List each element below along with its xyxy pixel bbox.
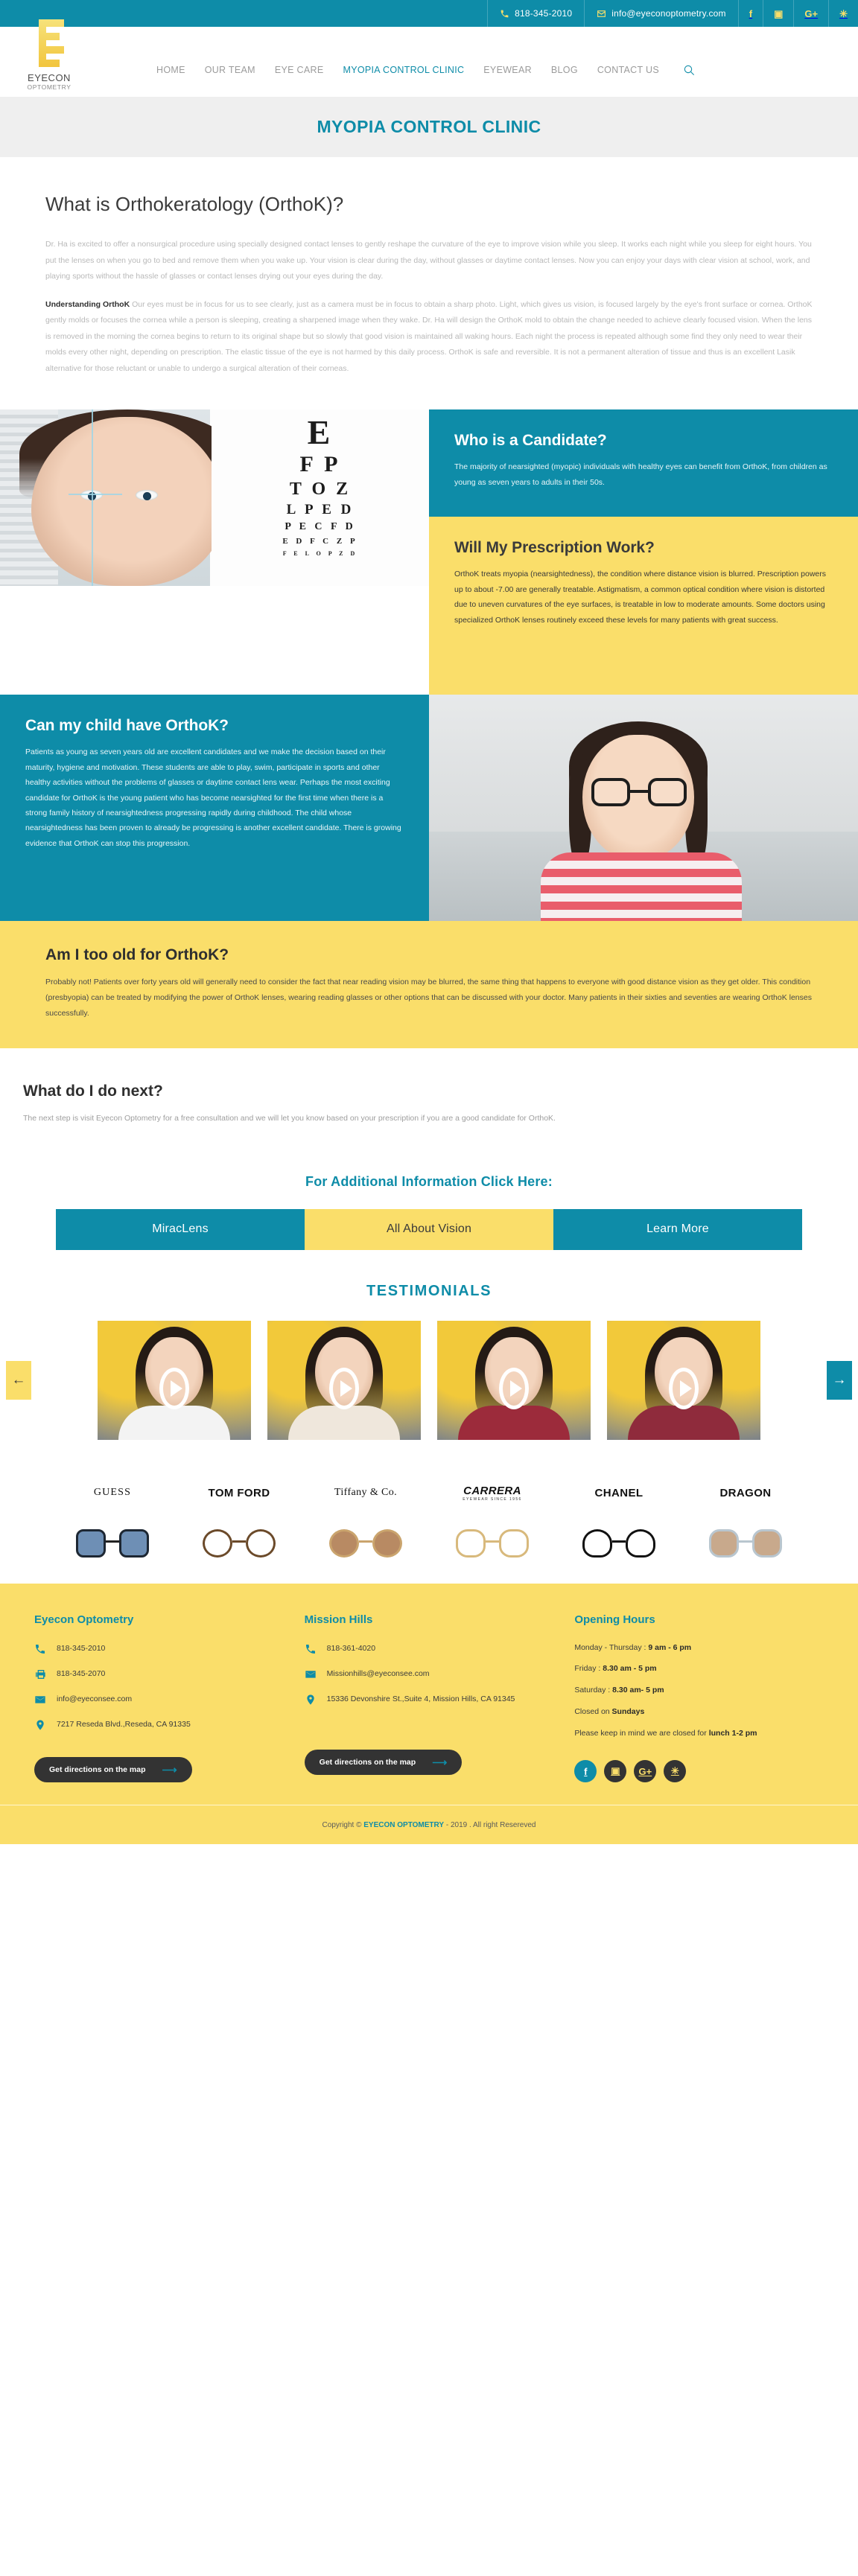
hours-label-friday: Friday : — [574, 1664, 603, 1673]
brand-name-tom-ford: TOM FORD — [183, 1487, 295, 1499]
footer-col2-phone-text: 818-361-4020 — [327, 1642, 375, 1654]
eyechart-row-6: E D F C Z P — [282, 538, 357, 546]
child-photo — [429, 695, 858, 921]
nav-item-myopia-control-clinic[interactable]: MYOPIA CONTROL CLINIC — [343, 65, 464, 75]
footer-col1-directions-label: Get directions on the map — [49, 1765, 146, 1774]
facebook-icon: f — [749, 9, 752, 19]
hours-row-lunch: Please keep in mind we are closed for lu… — [574, 1728, 824, 1740]
intro-paragraph-2-lead: Understanding OrthoK — [45, 300, 130, 309]
footer-col2-title: Mission Hills — [305, 1613, 554, 1626]
site-header: EYECON OPTOMETRY HOME OUR TEAM EYE CARE … — [0, 27, 858, 97]
testimonial-video-1[interactable] — [98, 1321, 251, 1440]
brand-dragon[interactable]: DRAGON — [690, 1487, 801, 1499]
glasses-product-row — [57, 1524, 801, 1563]
testimonial-video-4[interactable] — [607, 1321, 760, 1440]
eye-exam-image: E F P T O Z L P E D P E C F D E D F C Z … — [0, 409, 429, 586]
child-heading: Can my child have OrthoK? — [25, 717, 404, 735]
google-plus-icon: G+ — [638, 1766, 652, 1777]
phone-icon — [34, 1643, 46, 1655]
eyechart-row-5: P E C F D — [285, 522, 355, 532]
topbar-phone-text: 818-345-2010 — [515, 8, 572, 19]
footer-col2-address-text: 15336 Devonshire St.,Suite 4, Mission Hi… — [327, 1693, 515, 1705]
brand-name-carrera: CARRERA — [436, 1485, 548, 1497]
carousel-next-arrow[interactable]: → — [827, 1361, 852, 1400]
topbar-email-link[interactable]: info@eyeconoptometry.com — [584, 0, 738, 27]
footer-col3-title: Opening Hours — [574, 1613, 824, 1626]
footer-col1-email-text: info@eyeconsee.com — [57, 1693, 132, 1705]
envelope-icon — [34, 1694, 46, 1706]
nav-item-home[interactable]: HOME — [156, 65, 185, 75]
hours-value-mon-thu: 9 am - 6 pm — [648, 1643, 691, 1652]
glasses-product-1[interactable] — [57, 1524, 168, 1563]
hours-row-friday: Friday : 8.30 am - 5 pm — [574, 1663, 824, 1675]
logo-sub: OPTOMETRY — [22, 83, 76, 91]
hours-label-lunch: Please keep in mind we are closed for — [574, 1729, 708, 1738]
brand-carrera[interactable]: CARRERA EYEWEAR SINCE 1956 — [436, 1485, 548, 1502]
hours-label-saturday: Saturday : — [574, 1686, 612, 1695]
site-logo[interactable]: EYECON OPTOMETRY — [22, 18, 76, 91]
topbar-googleplus-link[interactable]: G+ — [793, 0, 828, 27]
intro-paragraph-2: Understanding OrthoK Our eyes must be in… — [45, 297, 813, 377]
footer-column-mission-hills: Mission Hills 818-361-4020 Missionhills@… — [305, 1613, 554, 1783]
eyechart-row-2: F P — [299, 453, 340, 476]
nav-item-contact-us[interactable]: CONTACT US — [597, 65, 659, 75]
split-left-column-2: Can my child have OrthoK? Patients as yo… — [0, 695, 429, 921]
hours-value-lunch: lunch 1-2 pm — [709, 1729, 757, 1738]
split-row-2: Can my child have OrthoK? Patients as yo… — [0, 695, 858, 921]
testimonials-carousel: ← — [0, 1321, 858, 1440]
brand-tagline-carrera: EYEWEAR SINCE 1956 — [436, 1497, 548, 1502]
eye-exam-photo: E F P T O Z L P E D P E C F D E D F C Z … — [0, 409, 429, 695]
too-old-wrap: Am I too old for OrthoK? Probably not! P… — [23, 946, 835, 1021]
footer-col1-fax-text: 818-345-2070 — [57, 1668, 105, 1680]
footer-col1-phone-text: 818-345-2010 — [57, 1642, 105, 1654]
what-next-section: What do I do next? The next step is visi… — [23, 1048, 835, 1148]
footer-yelp-button[interactable]: ✳ — [664, 1760, 686, 1782]
hours-row-mon-thu: Monday - Thursday : 9 am - 6 pm — [574, 1642, 824, 1654]
glasses-product-6[interactable] — [690, 1524, 801, 1563]
too-old-section: Am I too old for OrthoK? Probably not! P… — [0, 921, 858, 1048]
intro-section: What is Orthokeratology (OrthoK)? Dr. Ha… — [23, 157, 835, 409]
copyright-pre: Copyright © — [322, 1821, 364, 1829]
phone-icon — [305, 1643, 317, 1655]
alignment-crosshair-horizontal — [69, 494, 122, 495]
testimonials-section: TESTIMONIALS ← — [0, 1250, 858, 1459]
topbar-phone-link[interactable]: 818-345-2010 — [487, 0, 584, 27]
footer-col2-phone[interactable]: 818-361-4020 — [305, 1642, 554, 1655]
patient-face — [31, 417, 225, 586]
nav-item-eye-care[interactable]: EYE CARE — [275, 65, 324, 75]
what-next-heading: What do I do next? — [23, 1083, 835, 1100]
play-icon[interactable] — [329, 1368, 359, 1409]
carousel-prev-arrow[interactable]: ← — [6, 1361, 31, 1400]
footer-col1-address-text: 7217 Reseda Blvd.,Reseda, CA 91335 — [57, 1718, 191, 1730]
instagram-icon: ▣ — [611, 1765, 620, 1777]
child-body: Patients as young as seven years old are… — [25, 745, 404, 851]
footer-columns: Eyecon Optometry 818-345-2010 818-345-20… — [34, 1613, 824, 1783]
split-row-1: E F P T O Z L P E D P E C F D E D F C Z … — [0, 409, 858, 695]
too-old-heading: Am I too old for OrthoK? — [45, 946, 813, 964]
child-with-glasses-image — [429, 695, 858, 921]
footer-col2-address: 15336 Devonshire St.,Suite 4, Mission Hi… — [305, 1693, 554, 1706]
play-icon[interactable] — [669, 1368, 699, 1409]
child-panel: Can my child have OrthoK? Patients as yo… — [0, 695, 429, 921]
brand-logo-row: GUESS TOM FORD Tiffany & Co. CARRERA EYE… — [57, 1485, 801, 1502]
topbar-yelp-link[interactable]: ✳ — [828, 0, 858, 27]
glasses-product-2[interactable] — [183, 1524, 295, 1563]
eyecon-logo-mark — [27, 18, 71, 71]
map-pin-icon — [305, 1694, 317, 1706]
fax-icon — [34, 1668, 46, 1680]
footer-col1-directions-button[interactable]: Get directions on the map ⟶ — [34, 1757, 192, 1782]
person-body — [458, 1406, 570, 1440]
hours-value-sunday: Sundays — [612, 1707, 645, 1716]
hours-label-sunday: Closed on — [574, 1707, 611, 1716]
arrow-right-icon: ⟶ — [162, 1764, 177, 1775]
what-next-body: The next step is visit Eyecon Optometry … — [23, 1111, 753, 1126]
glasses-right-lens — [648, 778, 687, 806]
footer-instagram-button[interactable]: ▣ — [604, 1760, 626, 1782]
glasses-product-4[interactable] — [436, 1524, 548, 1563]
eyechart-row-1: E — [308, 415, 334, 450]
child-striped-shirt — [541, 852, 742, 921]
footer-col1-address: 7217 Reseda Blvd.,Reseda, CA 91335 — [34, 1718, 284, 1731]
alignment-crosshair-vertical — [92, 409, 93, 586]
footer-facebook-button[interactable]: f — [574, 1760, 597, 1782]
intro-paragraph-1: Dr. Ha is excited to offer a nonsurgical… — [45, 237, 813, 285]
envelope-icon — [305, 1668, 317, 1680]
person-body — [288, 1406, 400, 1440]
hours-label-mon-thu: Monday - Thursday : — [574, 1643, 648, 1652]
footer-col1-fax: 818-345-2070 — [34, 1668, 284, 1680]
child-eyeglasses — [591, 778, 687, 806]
google-plus-icon: G+ — [804, 9, 818, 19]
candidate-body: The majority of nearsighted (myopic) ind… — [454, 459, 833, 490]
testimonials-heading: TESTIMONIALS — [0, 1283, 858, 1300]
prescription-heading: Will My Prescription Work? — [454, 539, 833, 557]
topbar-instagram-link[interactable]: ▣ — [763, 0, 793, 27]
candidate-heading: Who is a Candidate? — [454, 432, 833, 450]
footer-column-eyecon: Eyecon Optometry 818-345-2010 818-345-20… — [34, 1613, 284, 1783]
facebook-icon: f — [584, 1766, 587, 1777]
learn-more-button[interactable]: Learn More — [553, 1209, 802, 1250]
eyechart-row-3: T O Z — [290, 480, 351, 498]
footer-col2-email[interactable]: Missionhills@eyeconsee.com — [305, 1668, 554, 1680]
intro-paragraph-2-body: Our eyes must be in focus for us to see … — [45, 300, 813, 373]
page-title: MYOPIA CONTROL CLINIC — [317, 117, 541, 137]
additional-info-heading: For Additional Information Click Here: — [0, 1174, 858, 1190]
testimonial-video-2[interactable] — [267, 1321, 421, 1440]
copyright-text: Copyright © EYECON OPTOMETRY - 2019 . Al… — [322, 1821, 536, 1829]
hours-row-sunday: Closed on Sundays — [574, 1706, 824, 1718]
person-body — [628, 1406, 740, 1440]
map-pin-icon — [34, 1719, 46, 1731]
copyright-post: - 2019 . All right Resereved — [444, 1821, 536, 1829]
yelp-icon: ✳ — [839, 9, 848, 19]
person-body — [118, 1406, 230, 1440]
glasses-product-5[interactable] — [563, 1524, 675, 1563]
all-about-vision-button[interactable]: All About Vision — [305, 1209, 553, 1250]
eyechart-row-4: L P E D — [287, 503, 355, 517]
nav-item-our-team[interactable]: OUR TEAM — [205, 65, 255, 75]
glasses-left-lens — [591, 778, 630, 806]
testimonial-video-3[interactable] — [437, 1321, 591, 1440]
instagram-icon: ▣ — [774, 9, 783, 19]
footer-column-hours: Opening Hours Monday - Thursday : 9 am -… — [574, 1613, 824, 1783]
logo-name: EYECON — [22, 73, 76, 83]
search-icon[interactable] — [683, 64, 695, 76]
brand-guess[interactable]: GUESS — [57, 1487, 168, 1499]
footer-col2-directions-button[interactable]: Get directions on the map ⟶ — [305, 1750, 463, 1775]
site-footer: Eyecon Optometry 818-345-2010 818-345-20… — [0, 1584, 858, 1845]
intro-heading: What is Orthokeratology (OrthoK)? — [45, 193, 813, 216]
page-title-banner: MYOPIA CONTROL CLINIC — [0, 97, 858, 157]
topbar-facebook-link[interactable]: f — [738, 0, 763, 27]
play-icon[interactable] — [159, 1368, 189, 1409]
candidate-panel: Who is a Candidate? The majority of near… — [429, 409, 858, 517]
brand-name-chanel: CHANEL — [563, 1487, 675, 1499]
main-nav: HOME OUR TEAM EYE CARE MYOPIA CONTROL CL… — [156, 64, 695, 76]
footer-col2-directions-label: Get directions on the map — [320, 1758, 416, 1767]
hours-value-friday: 8.30 am - 5 pm — [603, 1664, 656, 1673]
brand-chanel[interactable]: CHANEL — [563, 1487, 675, 1499]
prescription-body: OrthoK treats myopia (nearsightedness), … — [454, 567, 833, 628]
brand-tiffany[interactable]: Tiffany & Co. — [310, 1487, 422, 1499]
topbar-email-text: info@eyeconoptometry.com — [611, 8, 726, 19]
eyechart-row-7: F E L O P Z D — [283, 551, 358, 557]
carousel-slides — [0, 1321, 858, 1440]
brand-tom-ford[interactable]: TOM FORD — [183, 1487, 295, 1499]
footer-social-row: f ▣ G+ ✳ — [574, 1760, 824, 1782]
brand-name-guess: GUESS — [57, 1487, 168, 1499]
brands-section: GUESS TOM FORD Tiffany & Co. CARRERA EYE… — [0, 1459, 858, 1584]
phone-icon — [500, 9, 509, 19]
copyright-brand: EYECON OPTOMETRY — [363, 1821, 444, 1829]
brand-name-tiffany: Tiffany & Co. — [310, 1487, 422, 1499]
play-icon[interactable] — [499, 1368, 529, 1409]
miraclens-button[interactable]: MiracLens — [56, 1209, 305, 1250]
hours-row-saturday: Saturday : 8.30 am- 5 pm — [574, 1685, 824, 1697]
snellen-eye-chart: E F P T O Z L P E D P E C F D E D F C Z … — [212, 409, 429, 586]
arrow-right-icon: ⟶ — [432, 1757, 447, 1767]
glasses-product-3[interactable] — [310, 1524, 422, 1563]
envelope-icon — [597, 9, 606, 19]
footer-col1-title: Eyecon Optometry — [34, 1613, 284, 1626]
prescription-panel: Will My Prescription Work? OrthoK treats… — [429, 517, 858, 695]
nav-item-eyewear[interactable]: EYEWEAR — [483, 65, 532, 75]
footer-col1-email[interactable]: info@eyeconsee.com — [34, 1693, 284, 1706]
brand-name-dragon: DRAGON — [690, 1487, 801, 1499]
hours-value-saturday: 8.30 am- 5 pm — [612, 1686, 664, 1695]
glasses-bridge — [630, 790, 648, 793]
nav-item-blog[interactable]: BLOG — [551, 65, 578, 75]
footer-googleplus-button[interactable]: G+ — [634, 1760, 656, 1782]
split-right-column-1: Who is a Candidate? The majority of near… — [429, 409, 858, 695]
footer-col1-phone[interactable]: 818-345-2010 — [34, 1642, 284, 1655]
yelp-icon: ✳ — [671, 1765, 679, 1777]
additional-info-section: For Additional Information Click Here: M… — [0, 1149, 858, 1250]
additional-info-buttons: MiracLens All About Vision Learn More — [56, 1209, 802, 1250]
footer-copyright-bar: Copyright © EYECON OPTOMETRY - 2019 . Al… — [0, 1805, 858, 1844]
top-utility-bar: 818-345-2010 info@eyeconoptometry.com f … — [0, 0, 858, 27]
too-old-body: Probably not! Patients over forty years … — [45, 975, 813, 1021]
footer-col2-email-text: Missionhills@eyeconsee.com — [327, 1668, 430, 1680]
